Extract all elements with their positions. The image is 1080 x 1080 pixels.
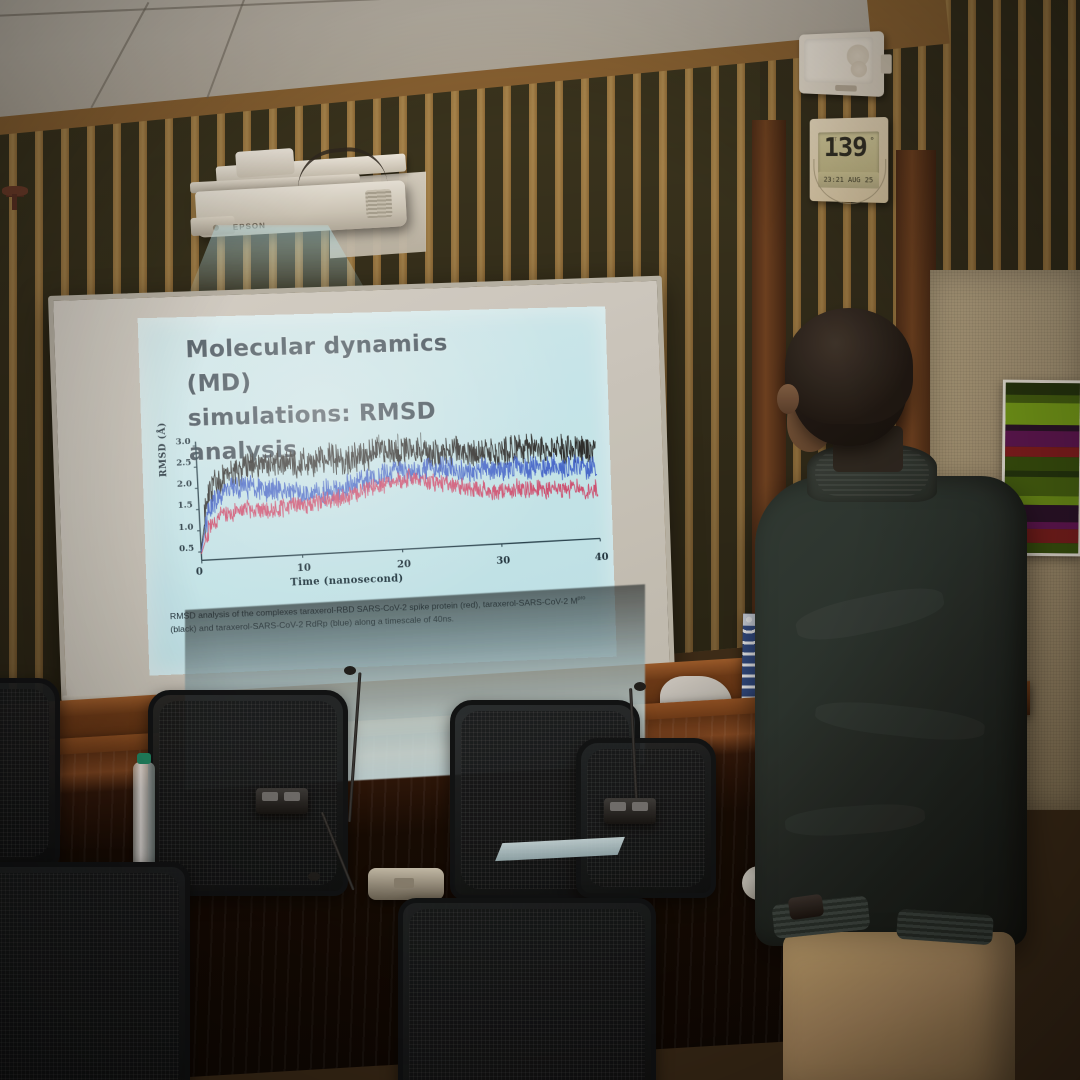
presenter-trousers [783, 932, 1015, 1080]
presenter-watch [788, 894, 825, 921]
chart-xtick: 0 [196, 567, 203, 578]
water-bottle [133, 762, 155, 866]
wall-speaker [799, 31, 884, 97]
speaker-badge [836, 85, 858, 92]
rmsd-chart: RMSD (Å) 0.51.01.52.02.53.0 010203040 Ti… [152, 417, 607, 598]
chart-ytick: 0.5 [174, 543, 195, 554]
conference-room-scene: SET 139 ° 23:21 AUG 25 EPSON Molecular d… [0, 0, 1080, 1080]
presenter-ear [777, 384, 799, 414]
thermostat-degree-icon: ° [870, 136, 874, 146]
projector-vent-icon [365, 189, 393, 218]
thermostat-wire [813, 159, 886, 205]
chart-ytick: 3.0 [170, 437, 191, 448]
chart-ylabel: RMSD (Å) [157, 422, 169, 477]
presenter-hair [785, 308, 913, 424]
thermostat-temperature: 139 [824, 135, 867, 161]
slide-title-line1: Molecular dynamics (MD) [185, 324, 518, 401]
standing-presenter [745, 300, 1045, 1080]
chart-plot-area [152, 417, 607, 598]
chart-xtick: 30 [496, 555, 510, 566]
chart-xtick: 20 [397, 559, 411, 570]
chart-xtick: 40 [595, 552, 609, 563]
chart-ytick: 1.5 [172, 501, 193, 512]
presenter-jacket [755, 476, 1027, 946]
chart-ytick: 2.0 [172, 480, 193, 491]
chart-xtick: 10 [297, 563, 311, 575]
chart-ytick: 1.0 [173, 522, 194, 533]
chart-ytick: 2.5 [171, 458, 192, 469]
speaker-tweeter-icon [851, 61, 867, 78]
speaker-bracket [881, 54, 892, 73]
wall-thermostat[interactable]: SET 139 ° 23:21 AUG 25 [810, 117, 889, 203]
sprinkler-stem [12, 194, 17, 210]
bottle-cap [137, 753, 151, 764]
projector-mount-bracket [235, 148, 295, 178]
